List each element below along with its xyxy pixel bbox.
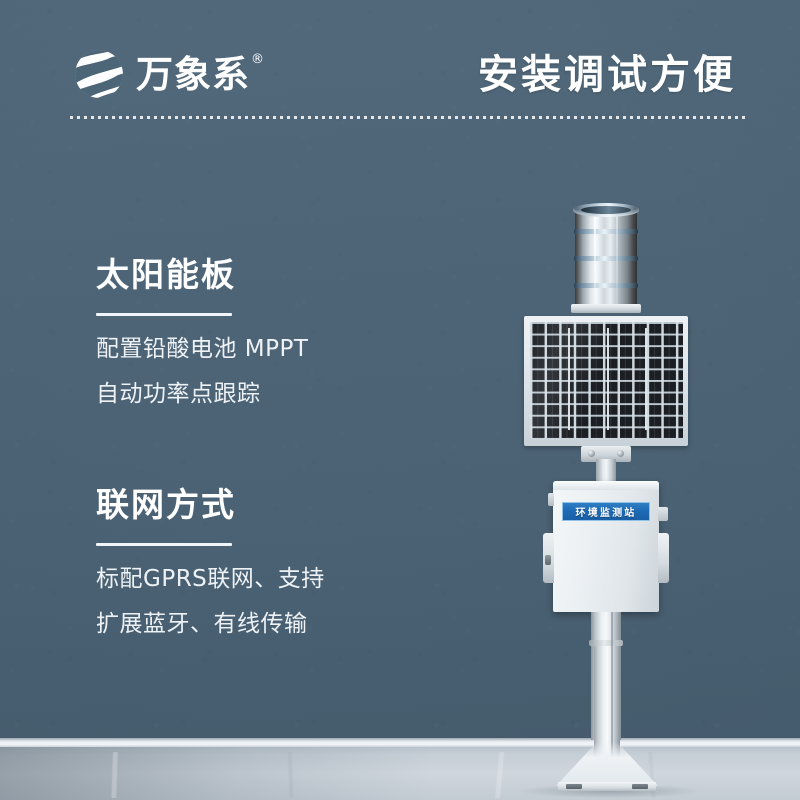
rain-gauge-funnel	[581, 206, 631, 214]
headline-title: 安装调试方便	[478, 52, 736, 98]
solar-busbar	[568, 328, 570, 430]
solar-busbar	[607, 328, 609, 430]
anchor-bolt-icon	[566, 784, 582, 789]
status-badge: 环境监测站	[562, 502, 650, 521]
registered-trademark-icon: ®	[251, 53, 265, 66]
feature-title: 太阳能板	[96, 255, 426, 295]
solar-panel	[524, 316, 688, 446]
feature-underline	[96, 313, 232, 316]
feature-block-solar-panel: 太阳能板 配置铅酸电池 MPPT 自动功率点跟踪	[96, 255, 426, 406]
brand-logo: 万象系 ®	[72, 47, 250, 101]
feature-line: 配置铅酸电池 MPPT	[96, 338, 426, 361]
feature-line: 自动功率点跟踪	[96, 383, 426, 406]
upper-mast	[596, 459, 616, 483]
cylindrical-rain-gauge	[575, 203, 637, 313]
control-box-right-tab	[658, 507, 668, 521]
anchor-bolt-icon	[632, 784, 648, 789]
bracket-bolt-icon	[617, 450, 624, 457]
control-box: 环境监测站	[553, 481, 659, 612]
dotted-divider	[70, 116, 746, 119]
product-banner: 万象系 ® 安装调试方便 太阳能板 配置铅酸电池 MPPT 自动功率点跟踪 联网…	[0, 0, 800, 800]
feature-underline	[96, 543, 232, 546]
rain-gauge-base	[571, 304, 641, 313]
feature-block-networking: 联网方式 标配GPRS联网、支持 扩展蓝牙、有线传输	[96, 485, 426, 636]
control-box-left-flange	[543, 533, 554, 583]
solar-cell-grid	[530, 322, 683, 438]
rain-gauge-ring	[574, 256, 638, 261]
cable-port-icon	[545, 555, 551, 565]
rain-gauge-ring	[574, 229, 638, 234]
solar-busbar	[645, 328, 647, 430]
rain-gauge-ring	[574, 283, 638, 288]
globe-swoosh-icon	[72, 47, 126, 101]
rain-gauge-highlight	[594, 213, 596, 305]
bracket-bolt-icon	[588, 450, 595, 457]
brand-name-text: 万象系	[136, 53, 250, 96]
wall-baseboard	[0, 738, 800, 747]
control-box-label-text: 环境监测站	[576, 504, 637, 519]
control-box-right-flange	[658, 533, 669, 583]
rain-gauge-highlight	[616, 213, 618, 305]
feature-line: 标配GPRS联网、支持	[96, 568, 426, 591]
control-box-lid	[553, 481, 659, 490]
feature-line: 扩展蓝牙、有线传输	[96, 613, 426, 636]
feature-title: 联网方式	[96, 485, 426, 525]
brand-name: 万象系 ®	[136, 56, 250, 93]
control-box-left-tab	[548, 493, 554, 506]
